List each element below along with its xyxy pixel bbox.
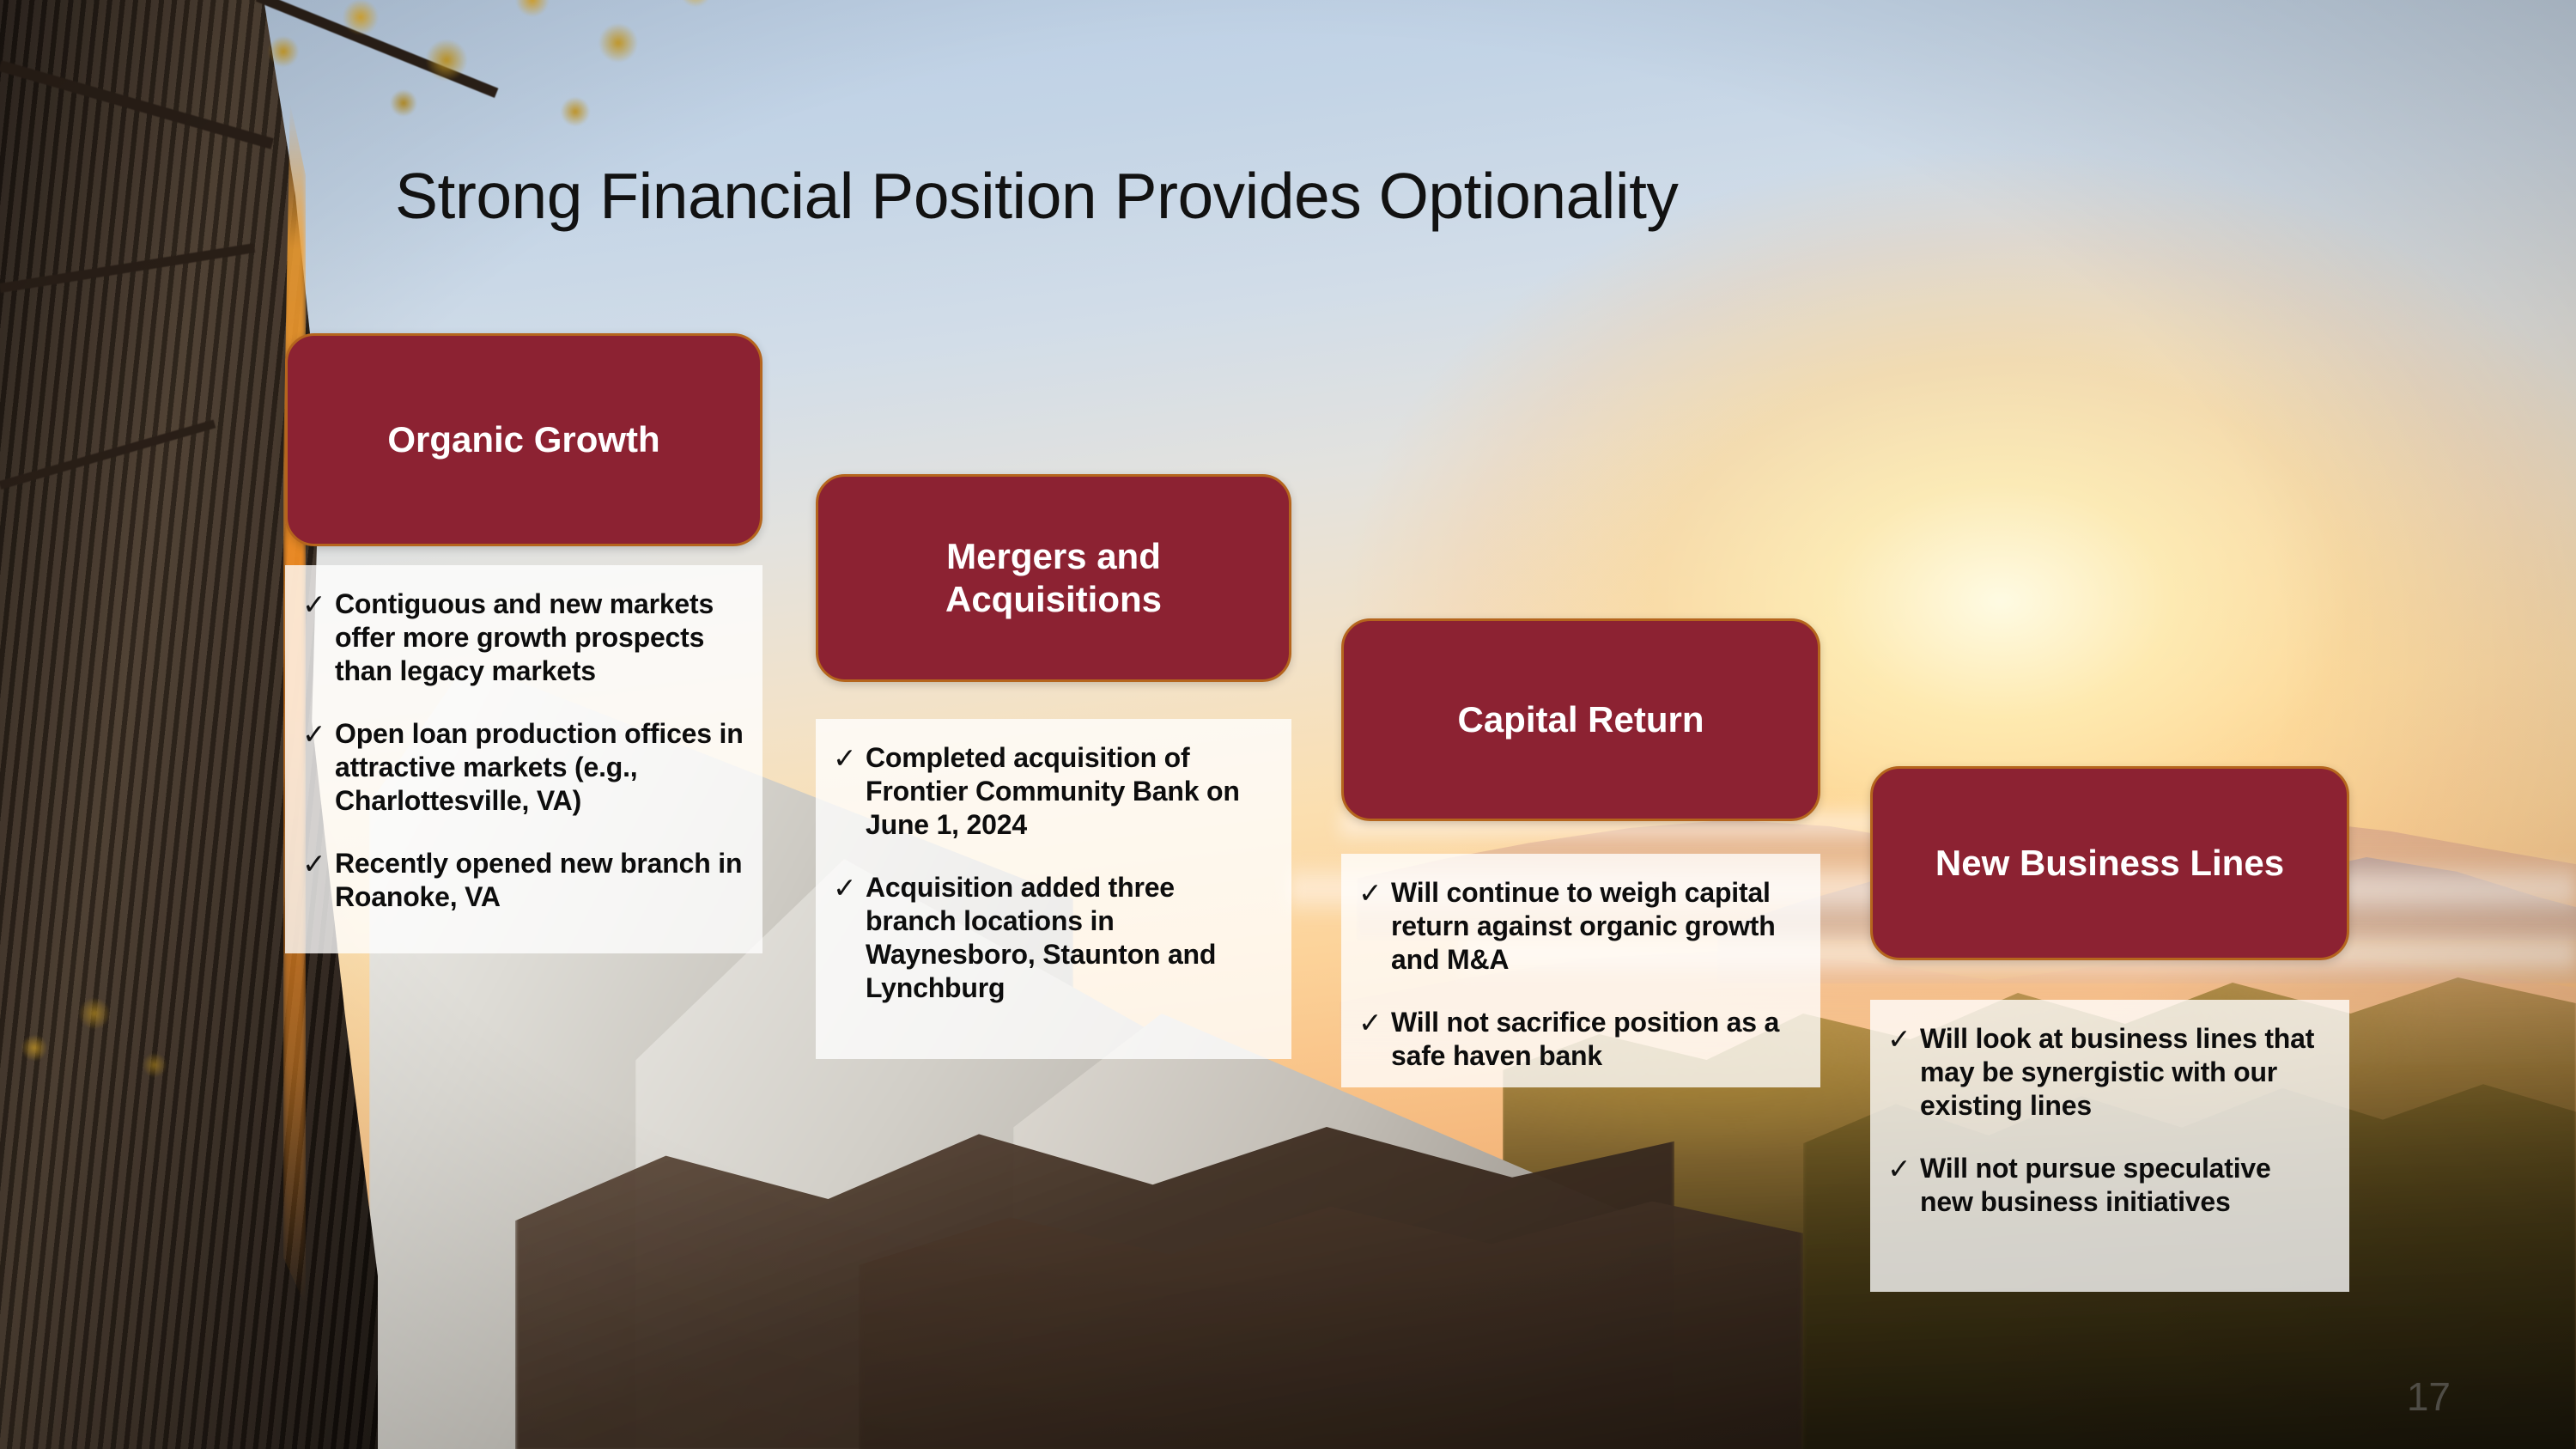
check-icon: ✓ bbox=[833, 741, 862, 776]
check-icon: ✓ bbox=[302, 588, 331, 622]
list-item: ✓ Acquisition added three branch locatio… bbox=[833, 871, 1273, 1005]
pillar-header-mergers-and-acquisitions[interactable]: Mergers and Acquisitions bbox=[816, 474, 1291, 682]
bullet-text: Will look at business lines that may be … bbox=[1920, 1022, 2330, 1123]
pillar-header-organic-growth[interactable]: Organic Growth bbox=[285, 333, 762, 546]
list-item: ✓ Recently opened new branch in Roanoke,… bbox=[302, 847, 744, 914]
pillar-body-organic-growth: ✓ Contiguous and new markets offer more … bbox=[285, 565, 762, 953]
list-item: ✓ Contiguous and new markets offer more … bbox=[302, 588, 744, 688]
list-item: ✓ Will not sacrifice position as a safe … bbox=[1358, 1006, 1801, 1073]
list-item: ✓ Completed acquisition of Frontier Comm… bbox=[833, 741, 1273, 842]
bullet-text: Will not pursue speculative new business… bbox=[1920, 1152, 2330, 1219]
slide-number: 17 bbox=[2407, 1373, 2451, 1420]
bullet-text: Completed acquisition of Frontier Commun… bbox=[866, 741, 1273, 842]
bullet-text: Will not sacrifice position as a safe ha… bbox=[1391, 1006, 1801, 1073]
check-icon: ✓ bbox=[1887, 1152, 1917, 1186]
list-item: ✓ Open loan production offices in attrac… bbox=[302, 717, 744, 818]
pillar-header-new-business-lines[interactable]: New Business Lines bbox=[1870, 766, 2349, 960]
list-item: ✓ Will not pursue speculative new busine… bbox=[1887, 1152, 2330, 1219]
list-item: ✓ Will continue to weigh capital return … bbox=[1358, 876, 1801, 977]
check-icon: ✓ bbox=[833, 871, 862, 905]
pillar-body-new-business-lines: ✓ Will look at business lines that may b… bbox=[1870, 1000, 2349, 1292]
pillar-body-capital-return: ✓ Will continue to weigh capital return … bbox=[1341, 854, 1820, 1087]
check-icon: ✓ bbox=[1358, 1006, 1388, 1040]
bullet-text: Will continue to weigh capital return ag… bbox=[1391, 876, 1801, 977]
page-title: Strong Financial Position Provides Optio… bbox=[395, 159, 1678, 233]
list-item: ✓ Will look at business lines that may b… bbox=[1887, 1022, 2330, 1123]
bullet-text: Contiguous and new markets offer more gr… bbox=[335, 588, 744, 688]
pillar-header-capital-return[interactable]: Capital Return bbox=[1341, 618, 1820, 821]
check-icon: ✓ bbox=[1358, 876, 1388, 910]
slide: Strong Financial Position Provides Optio… bbox=[0, 0, 2576, 1449]
bullet-text: Recently opened new branch in Roanoke, V… bbox=[335, 847, 744, 914]
bullet-text: Open loan production offices in attracti… bbox=[335, 717, 744, 818]
pillar-body-mergers-and-acquisitions: ✓ Completed acquisition of Frontier Comm… bbox=[816, 719, 1291, 1059]
check-icon: ✓ bbox=[1887, 1022, 1917, 1056]
bullet-text: Acquisition added three branch locations… bbox=[866, 871, 1273, 1005]
check-icon: ✓ bbox=[302, 847, 331, 881]
check-icon: ✓ bbox=[302, 717, 331, 752]
